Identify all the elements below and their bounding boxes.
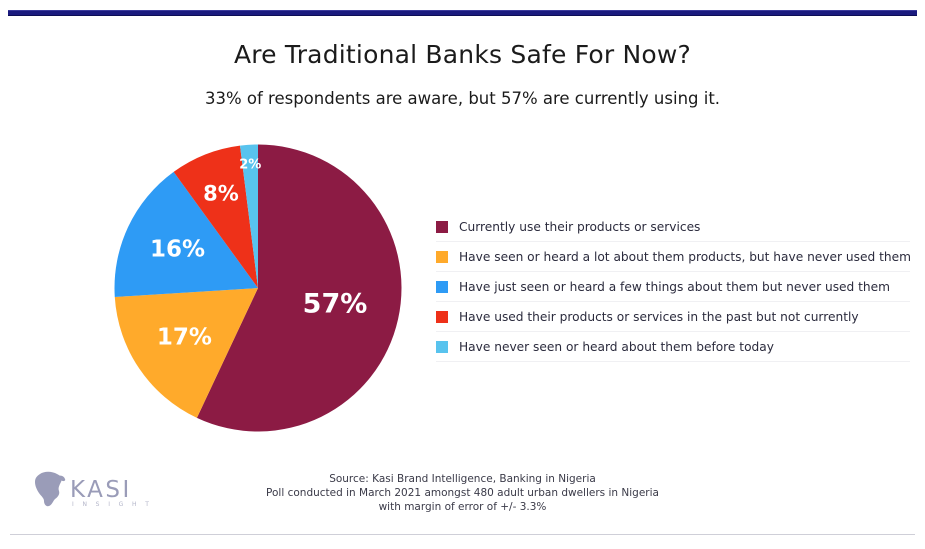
legend-item-label: Currently use their products or services [459,220,700,234]
page-subtitle: 33% of respondents are aware, but 57% ar… [0,89,925,108]
legend-item[interactable]: Have used their products or services in … [436,302,910,332]
legend-swatch-icon [436,221,448,233]
pie-slice-label: 8% [203,182,239,206]
africa-map-icon [35,472,65,506]
legend-item[interactable]: Have never seen or heard about them befo… [436,332,910,362]
legend-item-label: Have never seen or heard about them befo… [459,340,774,354]
pie-slice-label: 16% [150,237,205,263]
logo-tagline: I N S I G H T [72,501,152,508]
logo-svg: KASI I N S I G H T [28,468,160,512]
kasi-insight-logo: KASI I N S I G H T [28,468,160,512]
legend-item[interactable]: Currently use their products or services [436,212,910,242]
legend-swatch-icon [436,311,448,323]
legend-item-label: Have used their products or services in … [459,310,859,324]
pie-chart: 57%17%16%8%2% [114,144,402,432]
legend-swatch-icon [436,341,448,353]
legend-swatch-icon [436,281,448,293]
logo-wordmark: KASI [70,477,132,503]
pie-chart-svg: 57%17%16%8%2% [114,144,402,432]
legend-swatch-icon [436,251,448,263]
top-accent-bar [8,10,917,16]
pie-slice-label: 57% [303,289,368,320]
chart-legend: Currently use their products or services… [436,212,910,362]
bottom-divider [10,534,915,535]
legend-item[interactable]: Have seen or heard a lot about them prod… [436,242,910,272]
legend-item[interactable]: Have just seen or heard a few things abo… [436,272,910,302]
legend-item-label: Have just seen or heard a few things abo… [459,280,890,294]
pie-slice-label: 2% [239,157,261,172]
legend-item-label: Have seen or heard a lot about them prod… [459,250,911,264]
pie-slice-label: 17% [157,325,212,351]
page-title: Are Traditional Banks Safe For Now? [0,40,925,69]
